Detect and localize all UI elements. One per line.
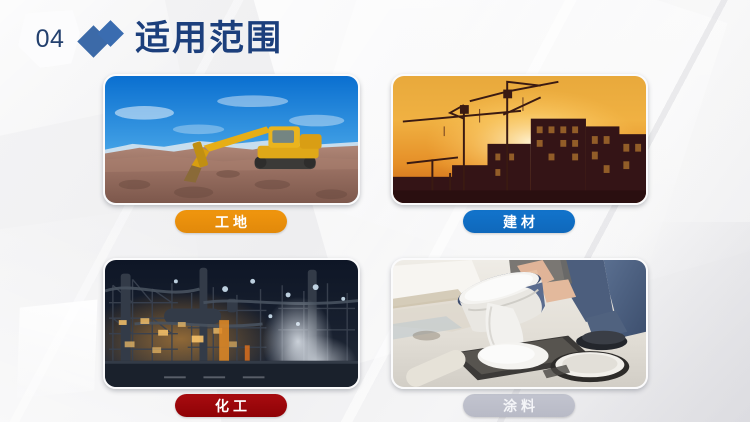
card-item[interactable]: 建材 — [391, 74, 648, 233]
construction-cranes-sunset-photo — [391, 74, 648, 205]
card-label-pill: 化工 — [175, 394, 287, 417]
card-row: 化工 — [0, 258, 750, 417]
chemical-plant-night-photo — [103, 258, 360, 389]
card-item[interactable]: 工地 — [103, 74, 360, 233]
card-label-pill: 涂料 — [463, 394, 575, 417]
section-number-label: 04 — [34, 25, 65, 54]
diamond-icon — [81, 19, 127, 59]
card-row: 工地 — [0, 74, 750, 233]
card-label-pill: 工地 — [175, 210, 287, 233]
card-item[interactable]: 化工 — [103, 258, 360, 417]
card-item[interactable]: 涂料 — [391, 258, 648, 417]
page-title: 适用范围 — [135, 22, 283, 57]
paint-pouring-photo — [391, 258, 648, 389]
slide-header: 04 适用范围 — [18, 10, 283, 68]
excavator-construction-site-photo — [103, 74, 360, 205]
card-grid: 工地 — [0, 74, 750, 417]
card-label-pill: 建材 — [463, 210, 575, 233]
section-number-badge: 04 — [18, 10, 80, 68]
